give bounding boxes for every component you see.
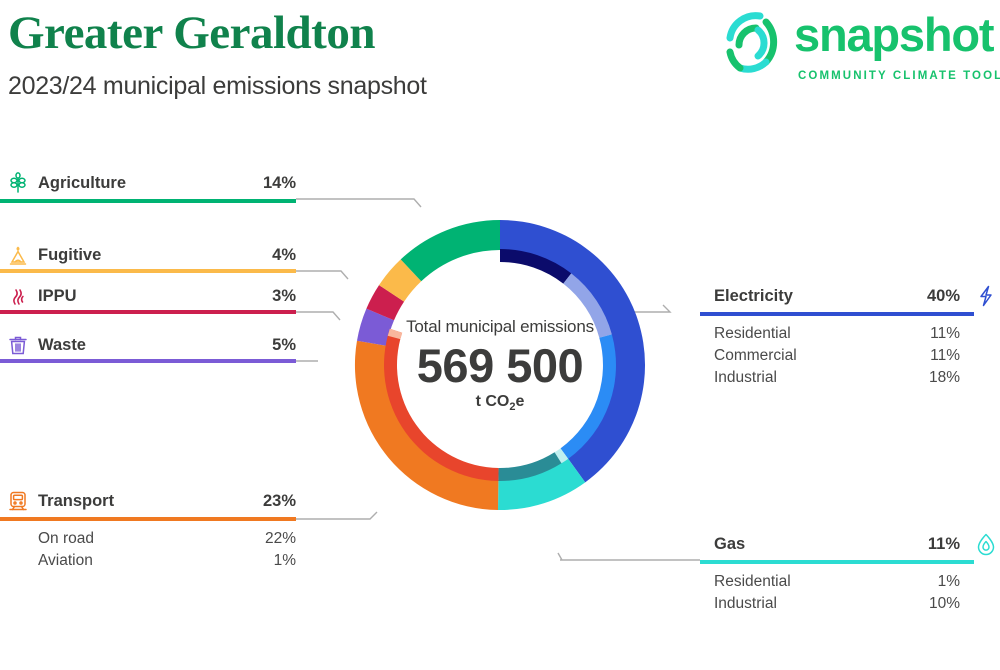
flame-icon [974,532,998,556]
sub-percent: 11% [930,347,960,365]
legend-head-gas: Gas 11% [700,534,1000,560]
legend-label-ippu: IPPU [38,287,77,306]
sub-label: Residential [714,573,791,591]
legend-item-waste[interactable]: Waste 5% [0,335,310,361]
smoke-icon [6,284,30,308]
wheat-icon [6,171,30,195]
sub-percent: 10% [929,595,960,613]
legend-head-ippu: IPPU 3% [0,286,310,312]
train-icon [6,489,30,513]
legend-percent-fugitive: 4% [272,246,296,265]
legend-head-waste: Waste 5% [0,335,310,361]
legend-bar-gas [700,560,974,564]
donut-outer-agriculture [401,220,500,281]
legend-label-fugitive: Fugitive [38,246,101,265]
legend-bar-ippu [0,310,296,314]
sub-label: Residential [714,325,791,343]
sub-percent: 1% [274,552,296,570]
sub-percent: 11% [930,325,960,343]
sub-percent: 1% [938,573,960,591]
sub-label: On road [38,530,94,548]
legend-bar-fugitive [0,269,296,273]
sub-label: Commercial [714,347,797,365]
donut-svg [330,185,670,545]
sub-percent: 18% [929,369,960,387]
legend-subitem-transport-aviation: Aviation 1% [0,552,310,574]
legend-label-waste: Waste [38,336,86,355]
legend-percent-gas: 11% [928,535,960,554]
legend-subitem-transport-onroad: On road 22% [0,530,310,552]
legend-head-agriculture: Agriculture 14% [0,173,310,199]
legend-subitem-gas-industrial: Industrial 10% [700,595,1000,617]
legend-head-fugitive: Fugitive 4% [0,245,310,271]
emissions-donut-chart: Total municipal emissions 569 500 t CO2e [330,185,670,545]
legend-bar-agriculture [0,199,296,203]
donut-outer-transport [355,341,498,510]
lightning-bolt-icon [974,284,998,308]
legend-subitem-electricity-commercial: Commercial 11% [700,347,1000,369]
legend-percent-agriculture: 14% [263,174,296,193]
legend-item-transport[interactable]: Transport 23% On road 22% Aviation 1% [0,491,310,574]
legend-item-fugitive[interactable]: Fugitive 4% [0,245,310,271]
legend-item-gas[interactable]: Gas 11% Residential 1% Industrial 10% [700,534,1000,617]
legend-head-transport: Transport 23% [0,491,310,517]
legend-percent-waste: 5% [272,336,296,355]
legend-percent-electricity: 40% [927,287,960,306]
sub-percent: 22% [265,530,296,548]
sub-label: Industrial [714,369,777,387]
legend-subitem-electricity-residential: Residential 11% [700,325,1000,347]
legend-label-agriculture: Agriculture [38,174,126,193]
legend-item-ippu[interactable]: IPPU 3% [0,286,310,312]
legend-head-electricity: Electricity 40% [700,286,1000,312]
legend-item-agriculture[interactable]: Agriculture 14% [0,173,310,199]
trash-bin-icon [6,333,30,357]
legend-bar-waste [0,359,296,363]
legend-label-electricity: Electricity [714,287,793,306]
legend-item-electricity[interactable]: Electricity 40% Residential 11% Commerci… [700,286,1000,391]
legend-label-transport: Transport [38,492,114,511]
sub-label: Industrial [714,595,777,613]
legend-bar-transport [0,517,296,521]
sub-label: Aviation [38,552,93,570]
legend-percent-ippu: 3% [272,287,296,306]
legend-percent-transport: 23% [263,492,296,511]
legend-subitem-gas-residential: Residential 1% [700,573,1000,595]
legend-bar-electricity [700,312,974,316]
legend-subitem-electricity-industrial: Industrial 18% [700,369,1000,391]
legend-label-gas: Gas [714,535,745,554]
flare-stack-icon [6,243,30,267]
